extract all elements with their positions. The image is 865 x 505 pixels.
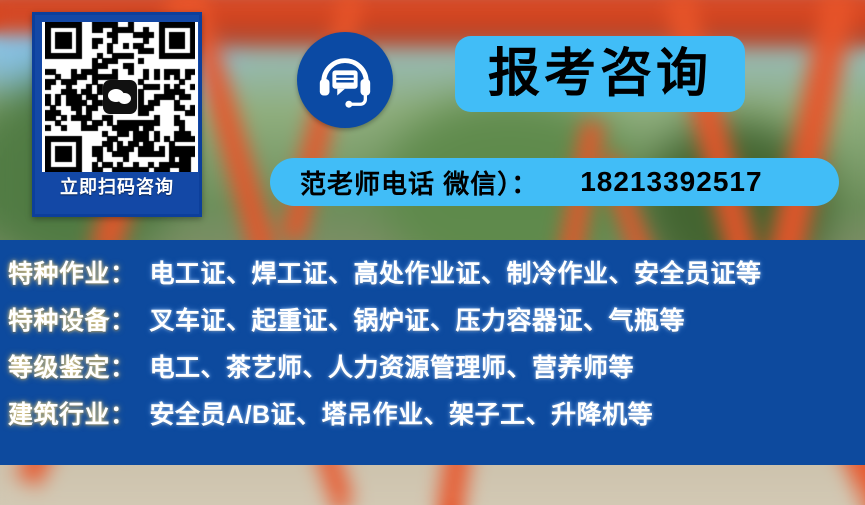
qr-caption: 立即扫码咨询 [42, 172, 192, 202]
promo-poster: 立即扫码咨询 报考咨询 范老师电话 微信）： 18213392517 特种作业：… [0, 0, 865, 505]
category-row: 建筑行业： 安全员A/B证、塔吊作业、架子工、升降机等 [0, 395, 865, 442]
category-row: 特种作业： 电工证、焊工证、高处作业证、制冷作业、安全员证等 [0, 254, 865, 301]
page-title: 报考咨询 [488, 48, 712, 100]
category-value: 叉车证、起重证、锅炉证、压力容器证、气瓶等 [150, 301, 686, 337]
title-banner: 报考咨询 [455, 36, 745, 112]
category-row: 等级鉴定： 电工、茶艺师、人力资源管理师、营养师等 [0, 348, 865, 395]
category-value: 安全员A/B证、塔吊作业、架子工、升降机等 [150, 395, 654, 431]
category-panel: 特种作业： 电工证、焊工证、高处作业证、制冷作业、安全员证等 特种设备： 叉车证… [0, 240, 865, 465]
qr-code-icon[interactable] [42, 22, 198, 172]
category-label: 等级鉴定： [8, 348, 136, 384]
category-value: 电工、茶艺师、人力资源管理师、营养师等 [150, 348, 635, 384]
category-label: 特种设备： [8, 301, 136, 337]
category-label: 特种作业： [8, 254, 136, 290]
headset-chat-icon [297, 32, 393, 128]
contact-number[interactable]: 18213392517 [580, 166, 762, 198]
category-label: 建筑行业： [8, 395, 136, 431]
wechat-icon [103, 80, 137, 114]
contact-banner[interactable]: 范老师电话 微信）： 18213392517 [270, 158, 839, 206]
qr-card[interactable]: 立即扫码咨询 [32, 12, 202, 217]
contact-label: 范老师电话 微信）： [300, 164, 538, 201]
category-row: 特种设备： 叉车证、起重证、锅炉证、压力容器证、气瓶等 [0, 301, 865, 348]
category-value: 电工证、焊工证、高处作业证、制冷作业、安全员证等 [150, 254, 762, 290]
